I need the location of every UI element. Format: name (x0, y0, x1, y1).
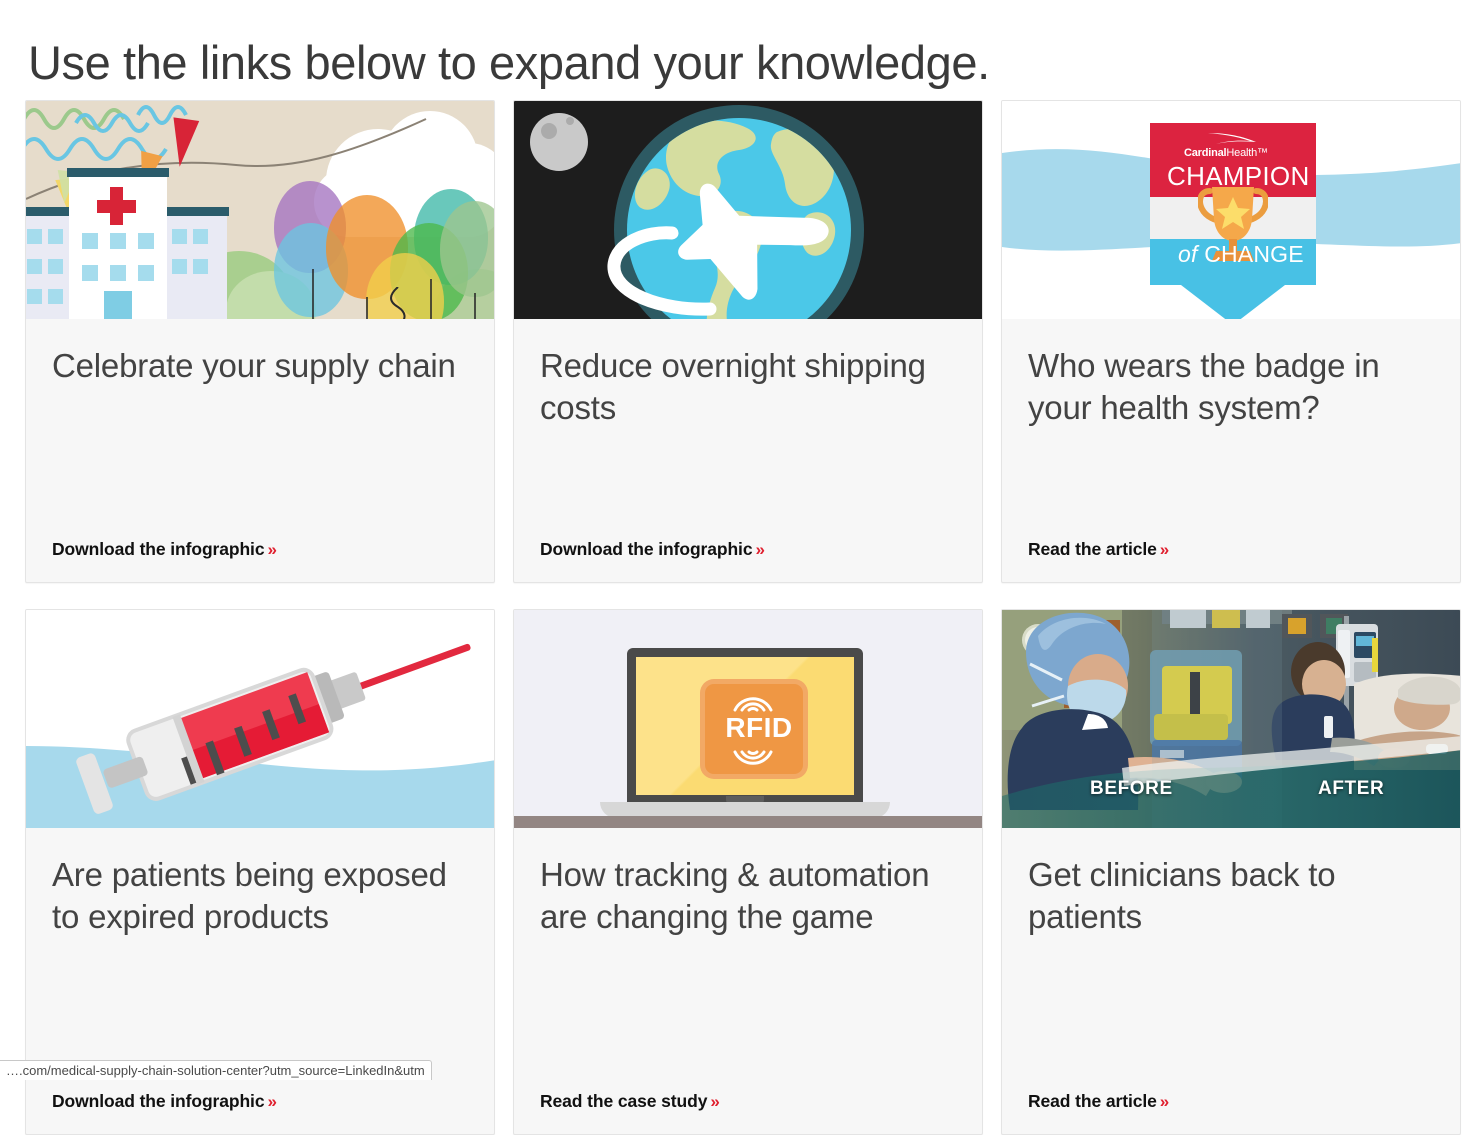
card-link-read-case-study[interactable]: Read the case study» (540, 1065, 956, 1112)
syringe-icon (34, 628, 494, 818)
chevron-right-icon: » (755, 540, 764, 559)
badge-change-word: CHANGE (1204, 241, 1304, 267)
card-link-download-infographic[interactable]: Download the infographic» (52, 513, 468, 560)
resource-card-clinicians-back-to-patients[interactable]: BEFORE AFTER Get clinicians back to pati… (1001, 609, 1461, 1135)
page-root: Use the links below to expand your knowl… (0, 0, 1484, 1080)
card-body: Who wears the badge in your health syste… (1002, 319, 1460, 582)
card-title: Are patients being exposed to expired pr… (52, 854, 468, 938)
card-body: Are patients being exposed to expired pr… (26, 828, 494, 1134)
card-link-label: Download the infographic (540, 539, 752, 559)
globe-airplane-illustration (514, 101, 982, 319)
card-link-label: Read the case study (540, 1091, 707, 1111)
resource-card-reduce-overnight-shipping[interactable]: Reduce overnight shipping costs Download… (513, 100, 983, 583)
card-body: Celebrate your supply chain Download the… (26, 319, 494, 582)
badge-of-change-text: of CHANGE (1178, 241, 1304, 268)
card-body: How tracking & automation are changing t… (514, 828, 982, 1134)
photo-label-before: BEFORE (1090, 778, 1173, 800)
chevron-right-icon: » (710, 1092, 719, 1111)
laptop-icon: RFID (627, 648, 863, 804)
clinicians-before-after-photo: BEFORE AFTER (1002, 610, 1460, 828)
champion-of-change-badge-illustration: CardinalHealth™ CHAMPION of CHANGE (1002, 101, 1460, 319)
photo-content (1002, 610, 1460, 828)
airplane-icon (602, 161, 912, 319)
card-link-label: Read the article (1028, 539, 1157, 559)
cardinal-health-wordmark: CardinalHealth™ (1184, 147, 1268, 159)
chevron-right-icon: » (1160, 540, 1169, 559)
rfid-chip-icon: RFID (700, 679, 808, 779)
shield-icon: CardinalHealth™ CHAMPION of CHANGE (1150, 123, 1316, 303)
moon-icon (530, 113, 588, 171)
card-body: Get clinicians back to patients Read the… (1002, 828, 1460, 1134)
syringe-illustration (26, 610, 494, 828)
badge-of-word: of (1178, 241, 1198, 267)
hospital-celebration-illustration (26, 101, 494, 319)
chevron-right-icon: » (267, 1092, 276, 1111)
chevron-right-icon: » (267, 540, 276, 559)
photo-label-after: AFTER (1318, 778, 1384, 800)
card-link-label: Download the infographic (52, 1091, 264, 1111)
rfid-label: RFID (715, 712, 803, 744)
card-title: Celebrate your supply chain (52, 345, 468, 387)
resource-card-grid: Celebrate your supply chain Download the… (25, 100, 1463, 1135)
browser-status-bar-url: ….com/medical-supply-chain-solution-cent… (0, 1060, 432, 1080)
page-title: Use the links below to expand your knowl… (28, 35, 990, 90)
brand-light: Health™ (1226, 147, 1267, 159)
cardinal-health-swoosh-icon (1206, 131, 1262, 147)
resource-card-who-wears-the-badge[interactable]: CardinalHealth™ CHAMPION of CHANGE Who (1001, 100, 1461, 583)
card-title: Reduce overnight shipping costs (540, 345, 956, 429)
rfid-wave-bottom-icon (727, 750, 779, 772)
resource-card-expired-products[interactable]: Are patients being exposed to expired pr… (25, 609, 495, 1135)
brand-bold: Cardinal (1184, 147, 1226, 159)
card-body: Reduce overnight shipping costs Download… (514, 319, 982, 582)
rfid-wave-top-icon (727, 690, 779, 712)
balloon-string-curl-icon (382, 287, 422, 319)
resource-card-tracking-automation[interactable]: RFID How tracking & automation are ch (513, 609, 983, 1135)
card-link-read-article[interactable]: Read the article» (1028, 1065, 1434, 1112)
card-link-download-infographic[interactable]: Download the infographic» (540, 513, 956, 560)
card-link-label: Read the article (1028, 1091, 1157, 1111)
card-title: How tracking & automation are changing t… (540, 854, 956, 938)
card-title: Who wears the badge in your health syste… (1028, 345, 1434, 429)
chevron-right-icon: » (1160, 1092, 1169, 1111)
card-title: Get clinicians back to patients (1028, 854, 1434, 938)
card-link-label: Download the infographic (52, 539, 264, 559)
laptop-rfid-illustration: RFID (514, 610, 982, 828)
resource-card-celebrate-supply-chain[interactable]: Celebrate your supply chain Download the… (25, 100, 495, 583)
card-link-read-article[interactable]: Read the article» (1028, 513, 1434, 560)
